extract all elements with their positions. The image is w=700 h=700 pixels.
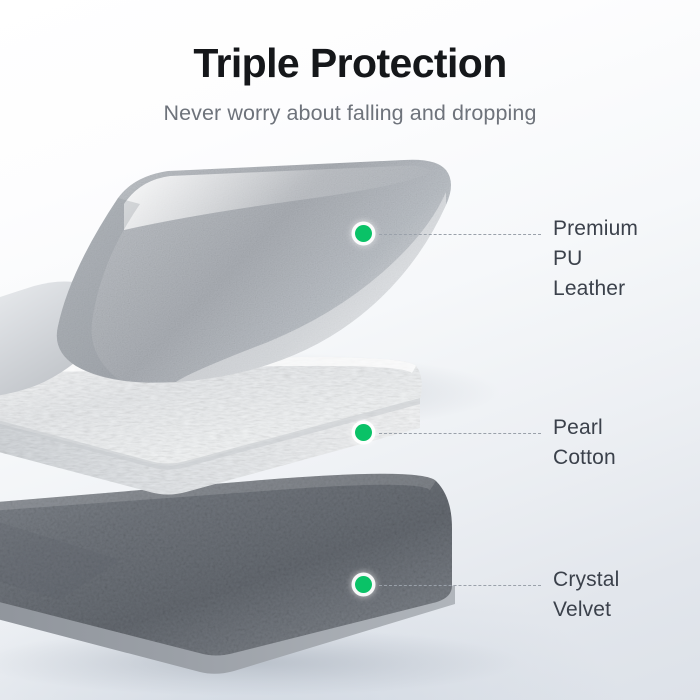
callout-group: Premium PU Leather Pearl Cotton Crystal … <box>0 0 700 700</box>
callout-label-premium-pu-leather: Premium PU Leather <box>553 214 638 303</box>
callout-label-pearl-cotton: Pearl Cotton <box>553 413 616 473</box>
marker-dot-icon <box>355 424 372 441</box>
leader-line <box>379 234 541 235</box>
marker-dot-icon <box>355 225 372 242</box>
leader-line <box>379 585 541 586</box>
leader-line <box>379 433 541 434</box>
callout-label-crystal-velvet: Crystal Velvet <box>553 565 619 625</box>
marker-dot-icon <box>355 576 372 593</box>
product-infographic: Triple Protection Never worry about fall… <box>0 0 700 700</box>
